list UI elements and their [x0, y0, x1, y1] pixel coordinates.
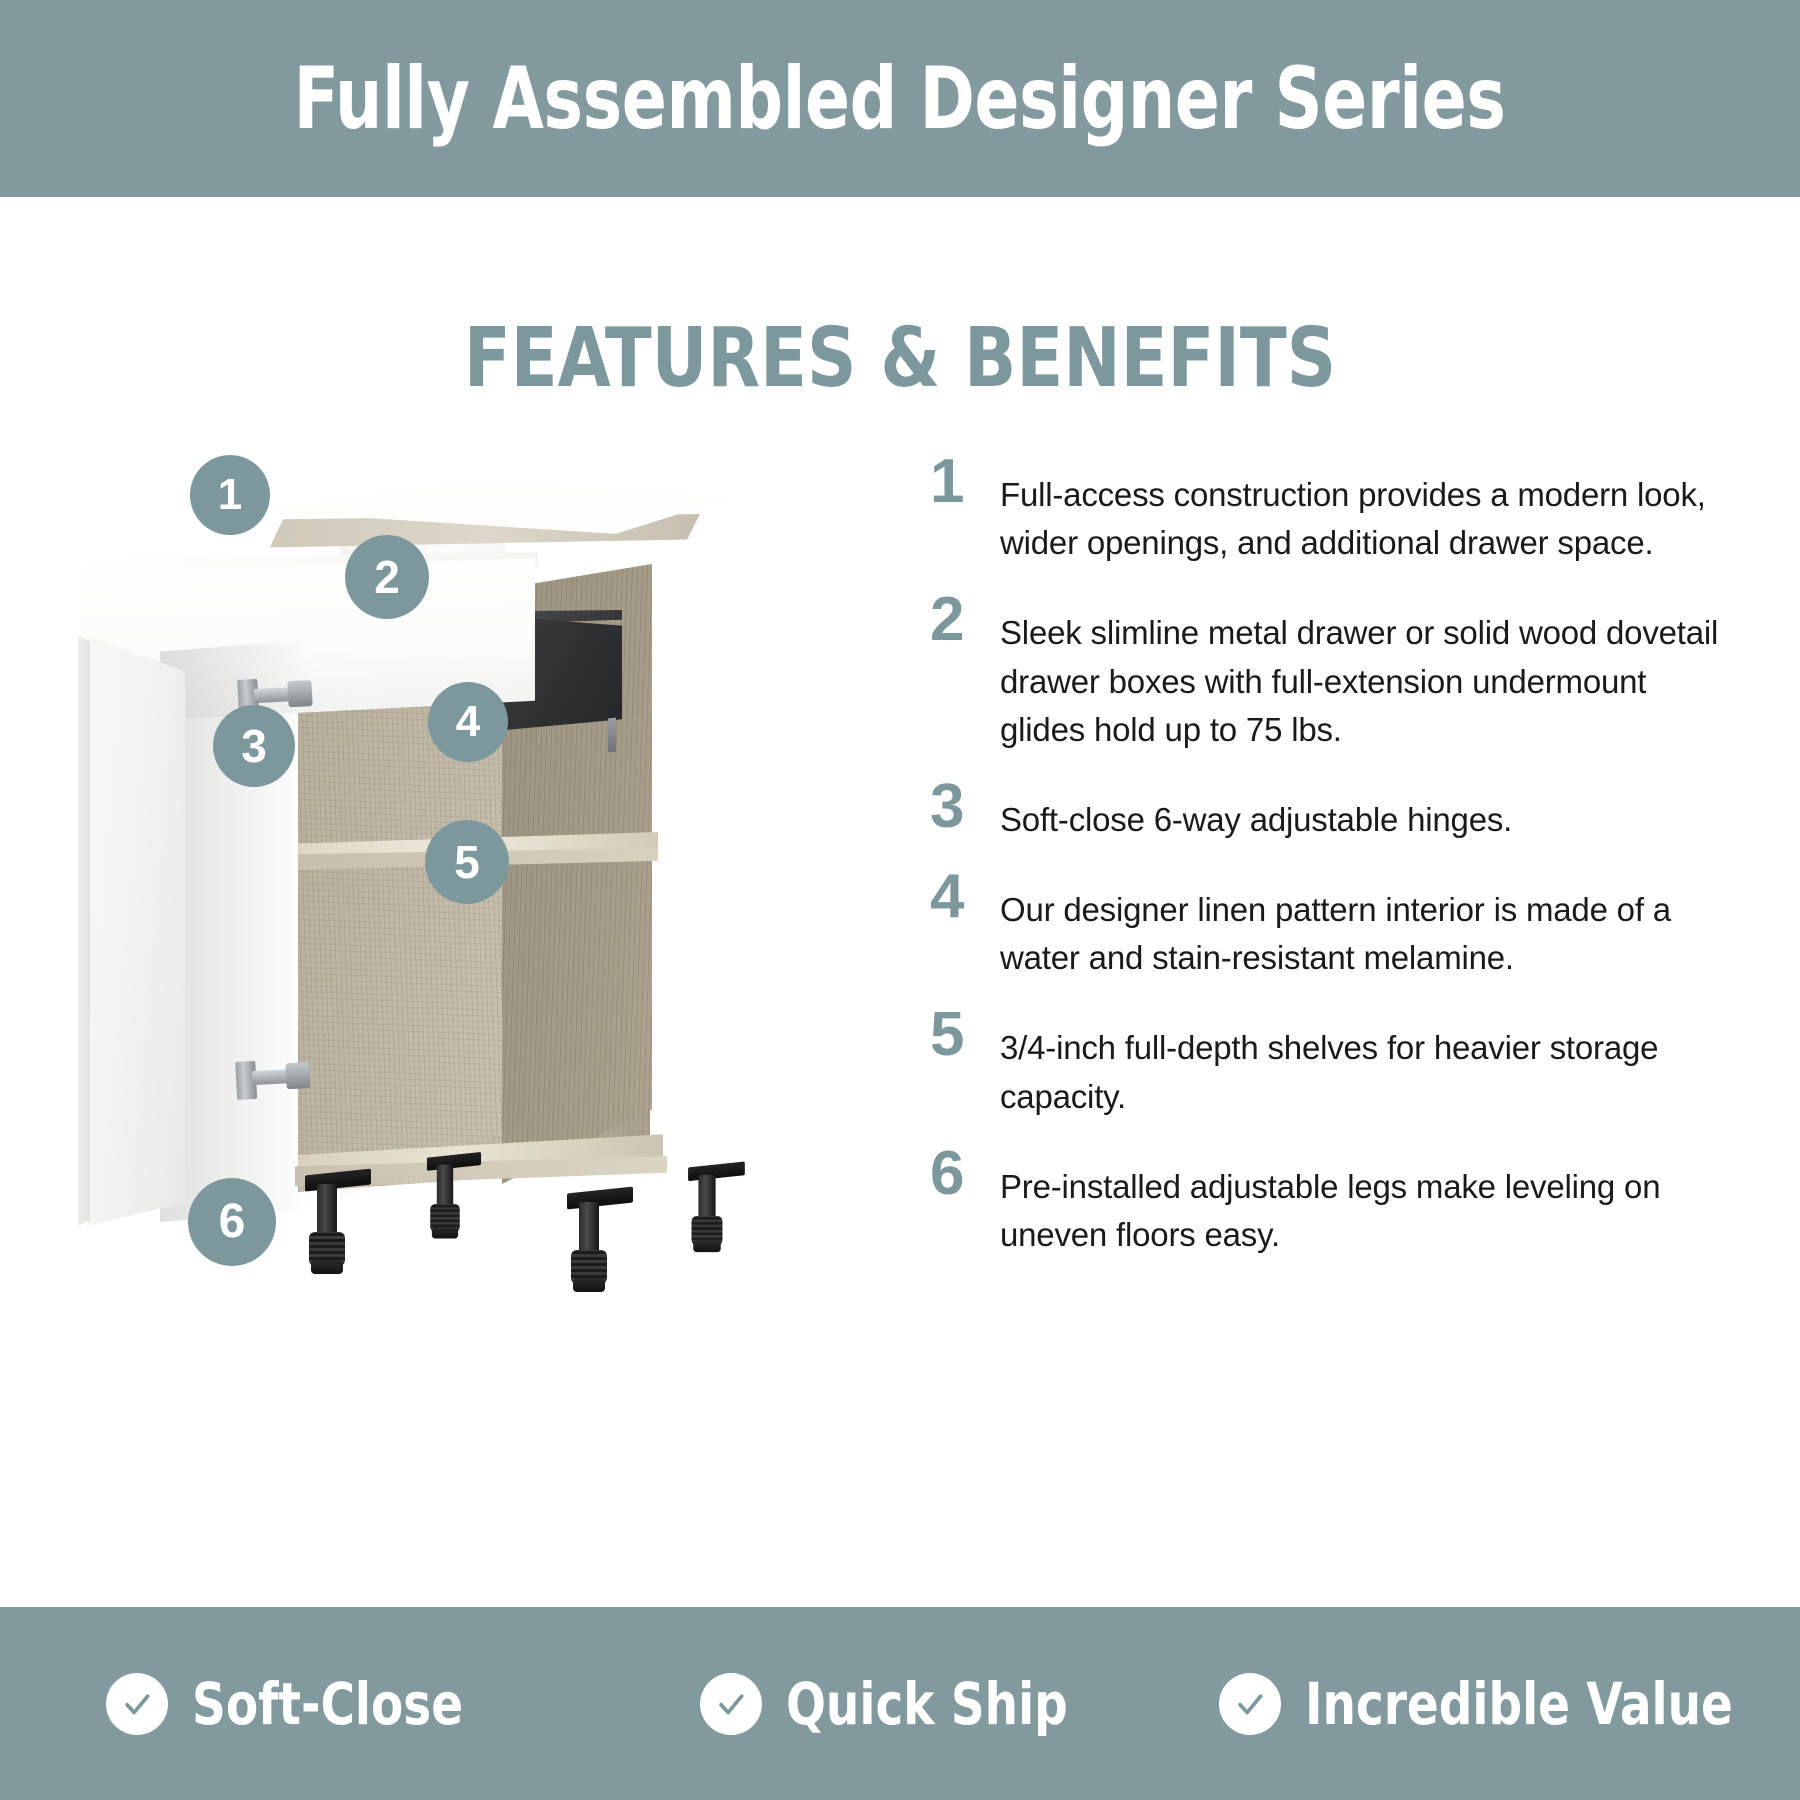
- adjustable-leg-back-right: [688, 1175, 726, 1258]
- callout-badge-6: 6: [188, 1178, 276, 1266]
- feature-text: 3/4-inch full-depth shelves for heavier …: [1000, 1008, 1720, 1120]
- feature-item-6: 6 Pre-installed adjustable legs make lev…: [930, 1147, 1720, 1259]
- footer-badge-label: Soft-Close: [192, 1675, 463, 1733]
- undermount-glide: [608, 718, 616, 753]
- product-image: [40, 440, 870, 1450]
- soft-close-hinge-lower: [235, 1048, 312, 1104]
- feature-text: Pre-installed adjustable legs make level…: [1000, 1147, 1720, 1259]
- feature-item-1: 1 Full-access construction provides a mo…: [930, 455, 1720, 567]
- footer-badge-soft-close: Soft-Close: [0, 1673, 600, 1735]
- callout-badge-3: 3: [213, 705, 295, 787]
- leg-foot: [573, 1278, 605, 1292]
- feature-number: 5: [930, 1008, 1000, 1061]
- hinge-cup: [285, 1062, 310, 1089]
- leg-bracket: [688, 1161, 745, 1181]
- feature-item-2: 2 Sleek slimline metal drawer or solid w…: [930, 593, 1720, 754]
- check-circle-icon: [1219, 1673, 1281, 1735]
- feature-item-3: 3 Soft-close 6-way adjustable hinges.: [930, 780, 1720, 844]
- hinge-cup: [287, 680, 312, 707]
- check-circle-icon: [106, 1673, 168, 1735]
- feature-number: 3: [930, 780, 1000, 833]
- leg-foot: [432, 1227, 458, 1238]
- section-heading: FEATURES & BENEFITS: [63, 318, 1737, 400]
- feature-number: 4: [930, 870, 1000, 923]
- adjustable-leg-front-left: [305, 1184, 349, 1280]
- header-band: Fully Assembled Designer Series: [0, 0, 1800, 197]
- adjustable-leg-front-right: [567, 1202, 611, 1298]
- check-circle-icon: [700, 1673, 762, 1735]
- callout-badge-5: 5: [425, 820, 509, 904]
- feature-text: Soft-close 6-way adjustable hinges.: [1000, 780, 1720, 844]
- callout-badge-2: 2: [345, 535, 429, 619]
- callout-badge-1: 1: [190, 455, 270, 535]
- feature-text: Full-access construction provides a mode…: [1000, 455, 1720, 567]
- page-title: Fully Assembled Designer Series: [294, 56, 1506, 142]
- features-list: 1 Full-access construction provides a mo…: [930, 455, 1720, 1285]
- footer-badge-incredible-value: Incredible Value: [1200, 1673, 1800, 1735]
- feature-number: 2: [930, 593, 1000, 646]
- feature-item-5: 5 3/4-inch full-depth shelves for heavie…: [930, 1008, 1720, 1120]
- footer-badge-label: Quick Ship: [786, 1675, 1068, 1733]
- footer-badge-quick-ship: Quick Ship: [600, 1673, 1200, 1735]
- feature-number: 1: [930, 455, 1000, 508]
- footer-band: Soft-Close Quick Ship Incredible Value: [0, 1607, 1800, 1800]
- leg-bracket: [567, 1187, 633, 1210]
- feature-number: 6: [930, 1147, 1000, 1200]
- callout-badge-4: 4: [428, 682, 508, 762]
- adjustable-leg-back-left: [427, 1165, 463, 1244]
- cabinet-door-edge: [60, 636, 90, 1226]
- feature-text: Sleek slimline metal drawer or solid woo…: [1000, 593, 1720, 754]
- leg-foot: [693, 1240, 721, 1252]
- footer-badge-label: Incredible Value: [1305, 1675, 1733, 1733]
- feature-text: Our designer linen pattern interior is m…: [1000, 870, 1720, 982]
- feature-item-4: 4 Our designer linen pattern interior is…: [930, 870, 1720, 982]
- leg-foot: [311, 1260, 343, 1274]
